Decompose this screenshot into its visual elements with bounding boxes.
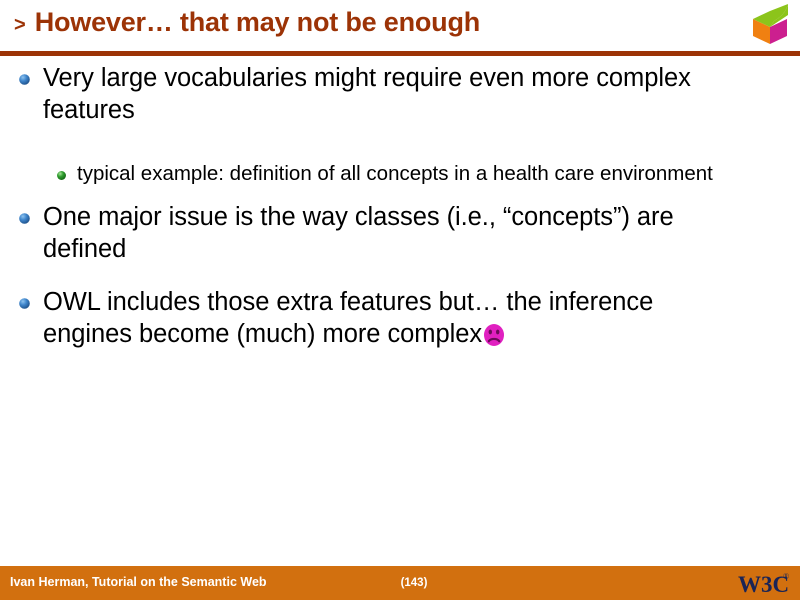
bullet-text: OWL includes those extra features but… t… (43, 288, 653, 348)
sad-face-emoticon-icon (482, 323, 506, 347)
blue-sphere-bullet-icon (18, 297, 31, 310)
bullet-text-with-emoticon: OWL includes those extra features but… t… (43, 286, 743, 350)
slide-body: Very large vocabularies might require ev… (0, 62, 800, 562)
footer-page-number: (143) (0, 577, 800, 589)
spacer (0, 129, 800, 145)
w3c-cube-logo-icon (748, 2, 794, 46)
page-title: However… that may not be enough (35, 8, 480, 36)
bullet-text: One major issue is the way classes (i.e.… (43, 201, 743, 265)
w3c-wordmark-logo-icon: W3C ® (736, 568, 794, 598)
title-row: > However… that may not be enough (14, 8, 480, 36)
blue-sphere-bullet-icon (18, 212, 31, 225)
blue-sphere-bullet-icon (18, 73, 31, 86)
bullet-item: Very large vocabularies might require ev… (0, 62, 800, 126)
slide-header: > However… that may not be enough (0, 0, 800, 56)
spacer (0, 268, 800, 286)
bullet-item: OWL includes those extra features but… t… (0, 286, 800, 350)
svg-text:W3C: W3C (738, 572, 789, 597)
title-marker-icon: > (14, 15, 26, 35)
bullet-text: Very large vocabularies might require ev… (43, 62, 743, 126)
header-divider (0, 51, 800, 56)
svg-text:®: ® (783, 572, 789, 581)
sub-bullet-item: typical example: definition of all conce… (0, 161, 800, 187)
green-sphere-bullet-icon (56, 170, 67, 181)
sub-bullet-text: typical example: definition of all conce… (77, 161, 713, 187)
slide: > However… that may not be enough (0, 0, 800, 600)
slide-footer: Ivan Herman, Tutorial on the Semantic We… (0, 566, 800, 600)
bullet-item: One major issue is the way classes (i.e.… (0, 201, 800, 265)
